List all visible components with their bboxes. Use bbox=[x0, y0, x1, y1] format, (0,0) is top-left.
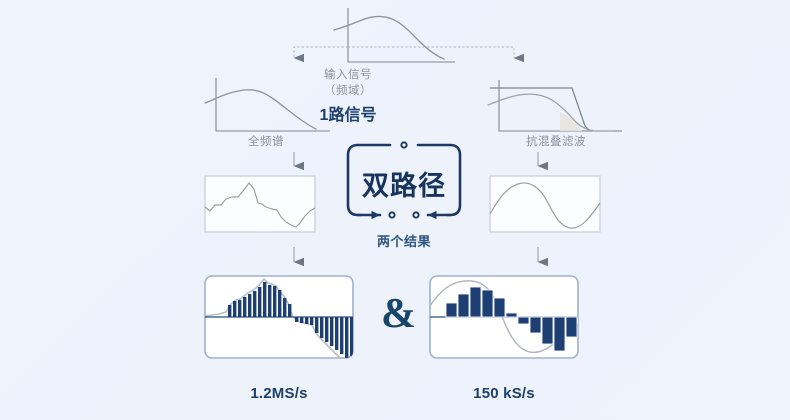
arrows-time-to-sampled bbox=[294, 247, 538, 262]
arrow-to-left-branch bbox=[294, 47, 348, 58]
arrow-to-right-branch bbox=[348, 47, 514, 58]
chart-full-spectrum bbox=[205, 78, 330, 131]
split-connectors bbox=[294, 47, 514, 58]
chart-antialias-filter bbox=[488, 80, 622, 131]
dot-bottom-left bbox=[389, 212, 394, 217]
ampersand-symbol: & bbox=[381, 293, 416, 335]
chart-left-time-waveform bbox=[205, 176, 315, 232]
diagram-graphics bbox=[0, 0, 790, 420]
chart-low-rate-sampled bbox=[430, 276, 589, 358]
center-path-frame bbox=[348, 145, 460, 215]
diagram-canvas: 输入信号 （频域） 1路信号 全频谱 抗混叠滤波 双路径 两个结果 & 1.2M… bbox=[0, 0, 790, 420]
chart-input-spectrum bbox=[334, 8, 455, 62]
arrows-spectrum-to-time bbox=[294, 152, 538, 166]
chart-high-rate-sampled bbox=[205, 276, 353, 362]
dot-top bbox=[401, 142, 406, 147]
dot-bottom-right bbox=[413, 212, 418, 217]
center-frame-dots bbox=[389, 142, 418, 217]
chart-right-time-sine bbox=[490, 176, 600, 232]
